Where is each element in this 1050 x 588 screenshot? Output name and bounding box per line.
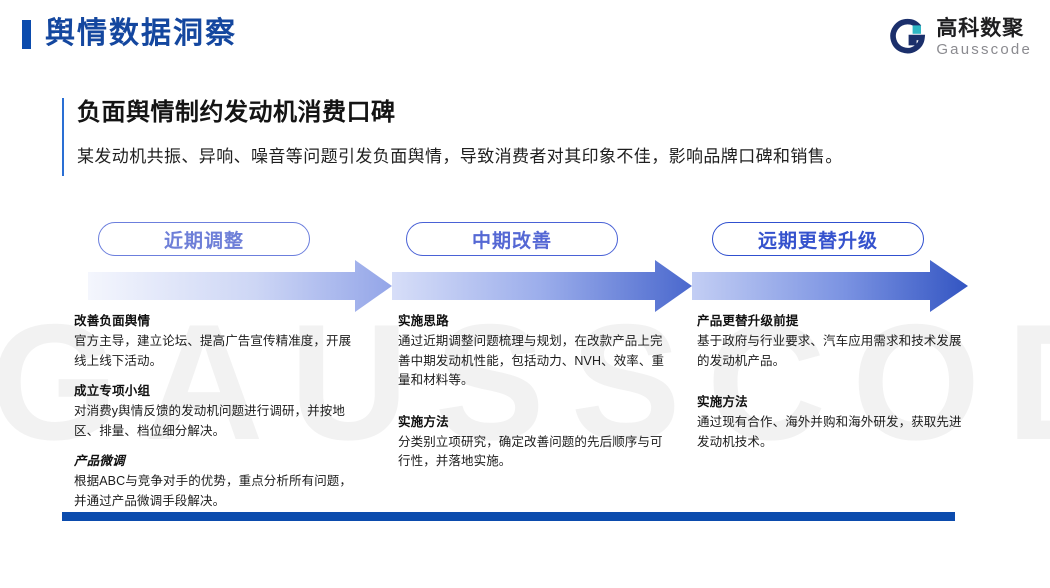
stage-pill-label: 近期调整: [164, 226, 244, 253]
detail-heading: 实施思路: [398, 312, 668, 331]
detail-heading: 实施方法: [398, 413, 668, 432]
detail-block: 成立专项小组 对消费y舆情反馈的发动机问题进行调研，并按地区、排量、档位细分解决…: [74, 382, 359, 441]
gausscode-logo-icon: [889, 18, 927, 56]
detail-column-near-term: 改善负面舆情 官方主导，建立论坛、提高广告宣传精准度，开展线上线下活动。 成立专…: [74, 312, 359, 511]
logo-text-en: Gausscode: [936, 42, 1032, 57]
logo-text-cn: 高科数聚: [936, 18, 1032, 39]
detail-column-long-term: 产品更替升级前提 基于政府与行业要求、汽车应用需求和技术发展的发动机产品。 实施…: [697, 312, 965, 452]
detail-heading: 改善负面舆情: [74, 312, 359, 331]
page-title: 舆情数据洞察: [45, 15, 237, 53]
header-accent-bar: [22, 20, 31, 49]
detail-column-mid-term: 实施思路 通过近期调整问题梳理与规划，在改款产品上完善中期发动机性能，包括动力、…: [398, 312, 668, 472]
detail-body: 官方主导，建立论坛、提高广告宣传精准度，开展线上线下活动。: [74, 332, 359, 371]
detail-body: 通过近期调整问题梳理与规划，在改款产品上完善中期发动机性能，包括动力、NVH、效…: [398, 332, 668, 391]
detail-block: 实施方法 分类别立项研究，确定改善问题的先后顺序与可行性，并落地实施。: [398, 413, 668, 472]
detail-heading: 成立专项小组: [74, 382, 359, 401]
detail-block: 改善负面舆情 官方主导，建立论坛、提高广告宣传精准度，开展线上线下活动。: [74, 312, 359, 371]
lead-heading: 负面舆情制约发动机消费口碑: [77, 96, 962, 130]
arrow-segment-3: [692, 260, 968, 312]
stage-pill-group: 近期调整 中期改善 远期更替升级: [0, 222, 1050, 260]
brand-logo: 高科数聚 Gausscode: [889, 14, 1032, 60]
lead-block: 负面舆情制约发动机消费口碑 某发动机共振、异响、噪音等问题引发负面舆情，导致消费…: [62, 96, 962, 170]
detail-block: 实施方法 通过现有合作、海外并购和海外研发，获取先进发动机技术。: [697, 393, 965, 452]
detail-heading: 产品微调: [74, 452, 359, 471]
lead-accent-rule: [62, 98, 64, 176]
detail-block: 产品更替升级前提 基于政府与行业要求、汽车应用需求和技术发展的发动机产品。: [697, 312, 965, 371]
stage-pill-long-term[interactable]: 远期更替升级: [712, 222, 924, 256]
detail-heading: 实施方法: [697, 393, 965, 412]
stage-pill-near-term[interactable]: 近期调整: [98, 222, 310, 256]
detail-body: 根据ABC与竞争对手的优势，重点分析所有问题，并通过产品微调手段解决。: [74, 472, 359, 511]
arrow-segment-1: [88, 260, 392, 312]
detail-block: 实施思路 通过近期调整问题梳理与规划，在改款产品上完善中期发动机性能，包括动力、…: [398, 312, 668, 391]
detail-block: 产品微调 根据ABC与竞争对手的优势，重点分析所有问题，并通过产品微调手段解决。: [74, 452, 359, 511]
detail-body: 通过现有合作、海外并购和海外研发，获取先进发动机技术。: [697, 413, 965, 452]
stage-pill-label: 中期改善: [472, 226, 552, 253]
footer-accent-bar: [62, 512, 955, 521]
slide-root: GAUSSCODE 舆情数据洞察 高科数聚 Gausscode 负面舆情制约发动…: [0, 0, 1050, 588]
stage-pill-label: 远期更替升级: [758, 226, 878, 253]
lead-paragraph: 某发动机共振、异响、噪音等问题引发负面舆情，导致消费者对其印象不佳，影响品牌口碑…: [77, 144, 962, 170]
timeline-arrow-bar: [0, 258, 1050, 314]
detail-body: 分类别立项研究，确定改善问题的先后顺序与可行性，并落地实施。: [398, 433, 668, 472]
detail-body: 对消费y舆情反馈的发动机问题进行调研，并按地区、排量、档位细分解决。: [74, 402, 359, 441]
slide-header: 舆情数据洞察 高科数聚 Gausscode: [0, 0, 1050, 68]
detail-body: 基于政府与行业要求、汽车应用需求和技术发展的发动机产品。: [697, 332, 965, 371]
detail-heading: 产品更替升级前提: [697, 312, 965, 331]
arrow-segment-2: [392, 260, 692, 312]
stage-pill-mid-term[interactable]: 中期改善: [406, 222, 618, 256]
